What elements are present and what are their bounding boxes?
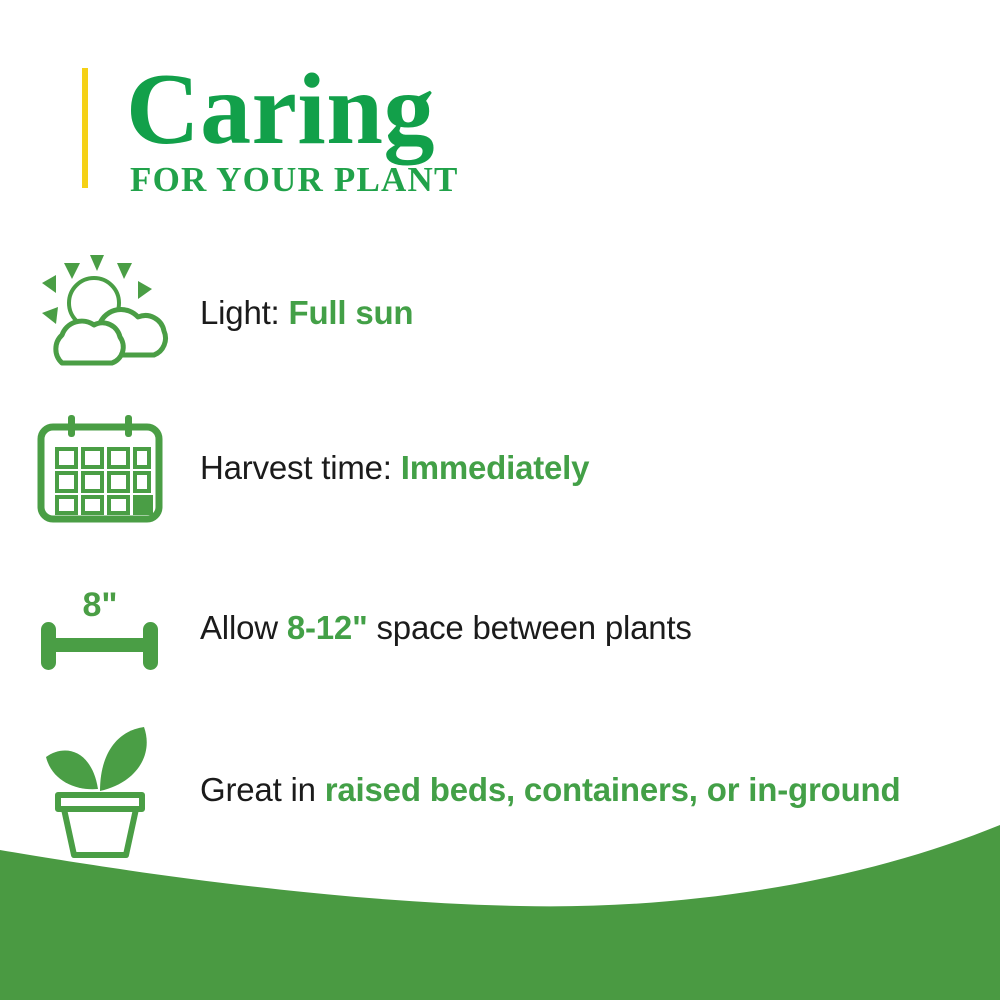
care-row-light-text: Light: Full sun bbox=[200, 293, 1000, 334]
care-row-spacing-text: Allow 8-12" space between plants bbox=[200, 608, 1000, 649]
page-subtitle: FOR YOUR PLANT bbox=[130, 162, 459, 197]
spacing-value: 8-12" bbox=[287, 609, 368, 646]
spacing-icon-label: 8" bbox=[82, 586, 117, 624]
title-block: Caring FOR YOUR PLANT bbox=[126, 62, 459, 197]
spacing-ruler-icon: 8" bbox=[0, 578, 200, 678]
accent-bar bbox=[82, 68, 88, 188]
header: Caring FOR YOUR PLANT bbox=[82, 62, 782, 197]
light-label: Light: bbox=[200, 294, 280, 331]
location-value: raised beds, containers, or in-ground bbox=[325, 771, 901, 808]
caring-for-your-plant-infographic: Caring FOR YOUR PLANT bbox=[0, 0, 1000, 1000]
page-title: Caring bbox=[126, 62, 459, 158]
light-value: Full sun bbox=[289, 294, 414, 331]
care-row-location-text: Great in raised beds, containers, or in-… bbox=[200, 770, 1000, 811]
harvest-value: Immediately bbox=[401, 449, 590, 486]
care-rows-list: Light: Full sun bbox=[0, 238, 1000, 873]
location-prefix: Great in bbox=[200, 771, 316, 808]
care-row-harvest: Harvest time: Immediately bbox=[0, 388, 1000, 548]
spacing-suffix: space between plants bbox=[377, 609, 692, 646]
spacing-prefix: Allow bbox=[200, 609, 278, 646]
bottom-wave-decoration bbox=[0, 820, 1000, 1000]
care-row-light: Light: Full sun bbox=[0, 238, 1000, 388]
care-row-harvest-text: Harvest time: Immediately bbox=[200, 448, 1000, 489]
calendar-icon bbox=[0, 413, 200, 523]
sun-behind-clouds-icon bbox=[0, 251, 200, 376]
harvest-label: Harvest time: bbox=[200, 449, 392, 486]
care-row-spacing: 8" Allow 8-12" space between plants bbox=[0, 548, 1000, 708]
